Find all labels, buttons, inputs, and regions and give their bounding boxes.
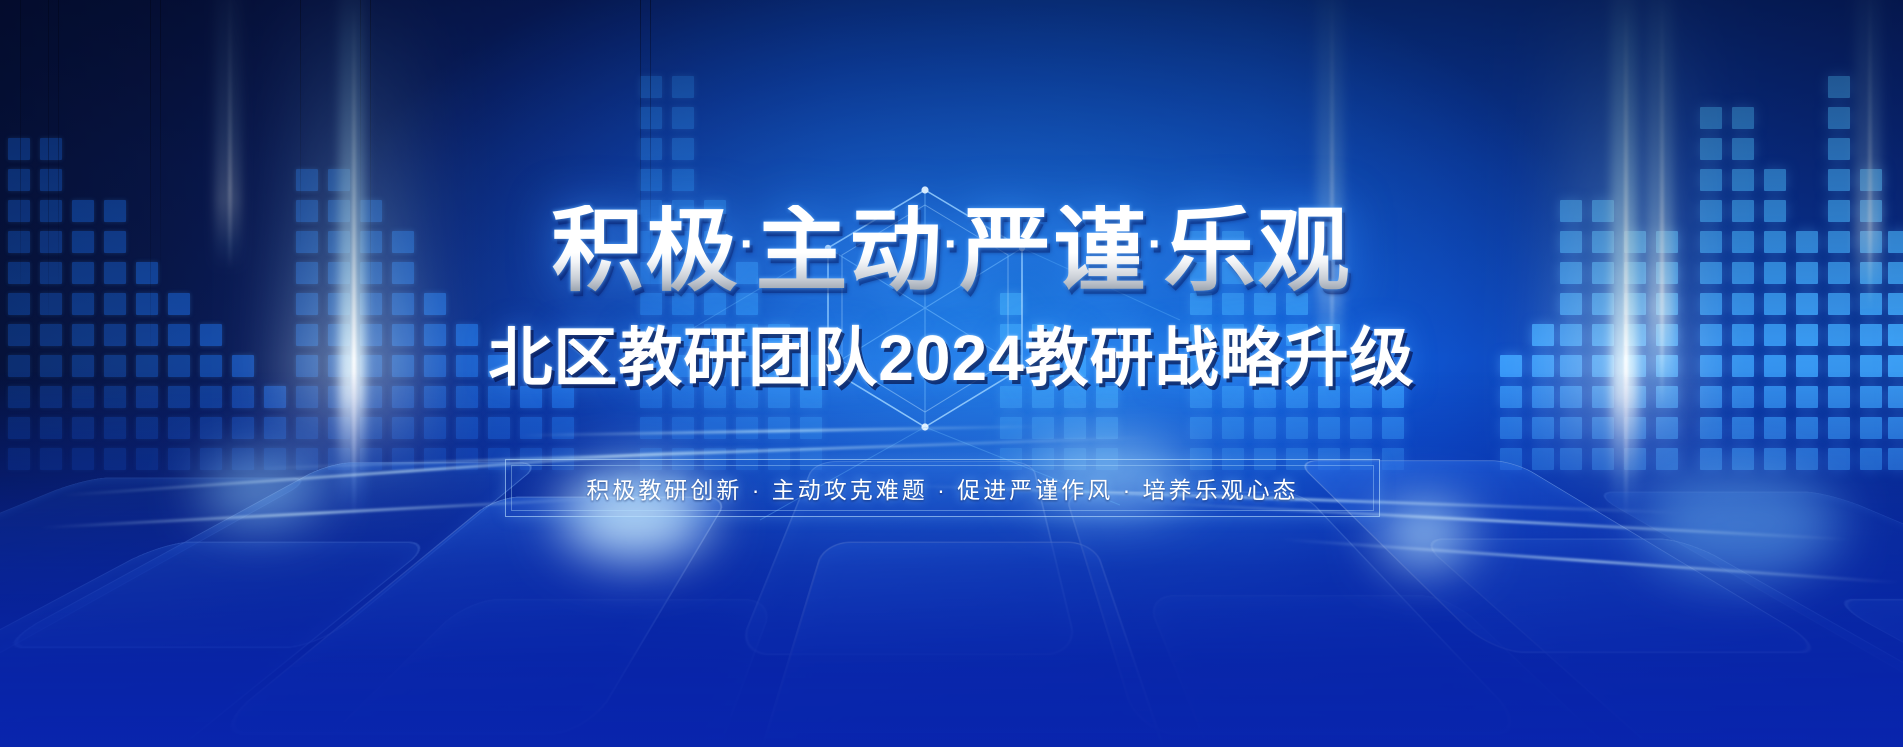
title-separator-3: · [1148,218,1164,271]
title-word-3: 严谨 [959,200,1147,302]
title-word-2: 主动 [755,200,943,302]
title-separator-2: · [944,218,960,271]
title-word-1: 积极 [551,200,739,302]
banner-content: 积极·主动·严谨·乐观 北区教研团队2024教研战略升级 积极教研创新 · 主动… [0,0,1903,747]
tagline-text: 积极教研创新 · 主动攻克难题 · 促进严谨作风 · 培养乐观心态 [506,460,1379,516]
title-separator-1: · [740,218,756,271]
page-title: 积极·主动·严谨·乐观 [0,205,1903,297]
page-subtitle: 北区教研团队2024教研战略升级 [0,326,1903,390]
banner-root: 积极·主动·严谨·乐观 北区教研团队2024教研战略升级 积极教研创新 · 主动… [0,0,1903,747]
tagline-frame: 积极教研创新 · 主动攻克难题 · 促进严谨作风 · 培养乐观心态 [505,459,1380,517]
title-word-4: 乐观 [1163,200,1351,302]
